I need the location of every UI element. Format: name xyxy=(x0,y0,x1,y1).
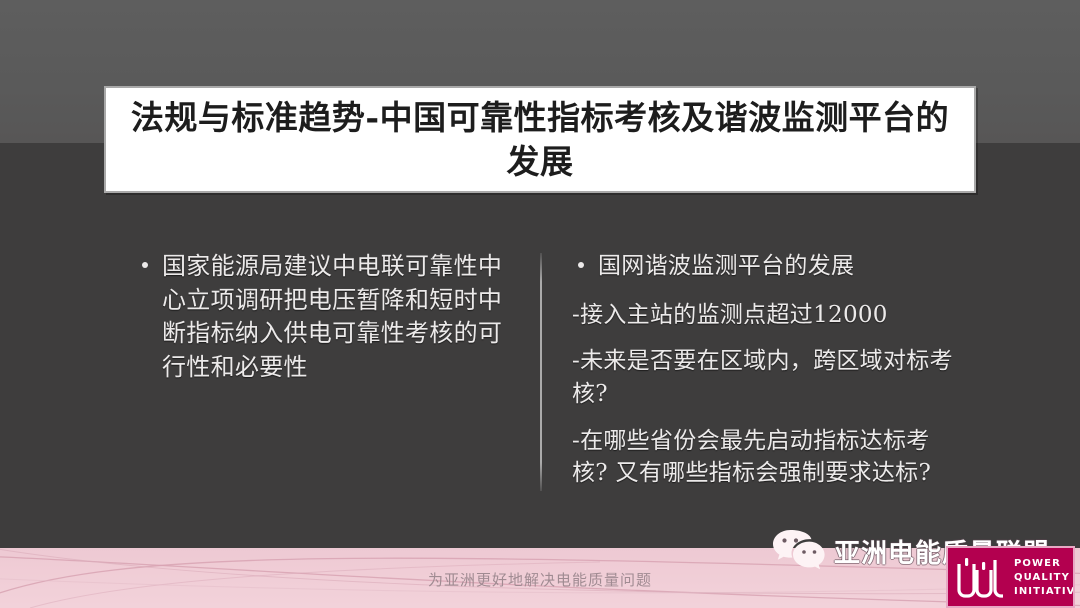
pqi-logo: POWER QUALITY INITIATIVE xyxy=(946,546,1075,608)
pqi-logo-mark xyxy=(955,556,1011,602)
column-divider xyxy=(540,253,542,491)
slide-title: 法规与标准趋势-中国可靠性指标考核及谐波监测平台的发展 xyxy=(106,96,974,183)
presentation-slide: 法规与标准趋势-中国可靠性指标考核及谐波监测平台的发展 国家能源局建议中电联可靠… xyxy=(0,0,1080,608)
slide-title-box: 法规与标准趋势-中国可靠性指标考核及谐波监测平台的发展 xyxy=(104,86,976,193)
bullet-item: 国家能源局建议中电联可靠性中心立项调研把电压暂降和短时中断指标纳入供电可靠性考核… xyxy=(136,250,508,384)
dash-item: -在哪些省份会最先启动指标达标考核? 又有哪些指标会强制要求达标? xyxy=(572,425,958,490)
dash-item: -未来是否要在区域内，跨区域对标考核? xyxy=(572,345,958,410)
logo-line-initiative: INITIATIVE xyxy=(1014,585,1075,598)
content-column-left: 国家能源局建议中电联可靠性中心立项调研把电压暂降和短时中断指标纳入供电可靠性考核… xyxy=(136,250,508,384)
dash-item: -接入主站的监测点超过12000 xyxy=(572,299,958,332)
wechat-icon xyxy=(772,528,826,574)
logo-line-quality: QUALITY xyxy=(1014,571,1075,584)
logo-line-power: POWER xyxy=(1014,557,1075,570)
bullet-item: 国网谐波监测平台的发展 xyxy=(572,250,958,283)
content-column-right: 国网谐波监测平台的发展 -接入主站的监测点超过12000 -未来是否要在区域内，… xyxy=(572,250,958,490)
pqi-logo-wordmark: POWER QUALITY INITIATIVE xyxy=(1014,557,1075,599)
